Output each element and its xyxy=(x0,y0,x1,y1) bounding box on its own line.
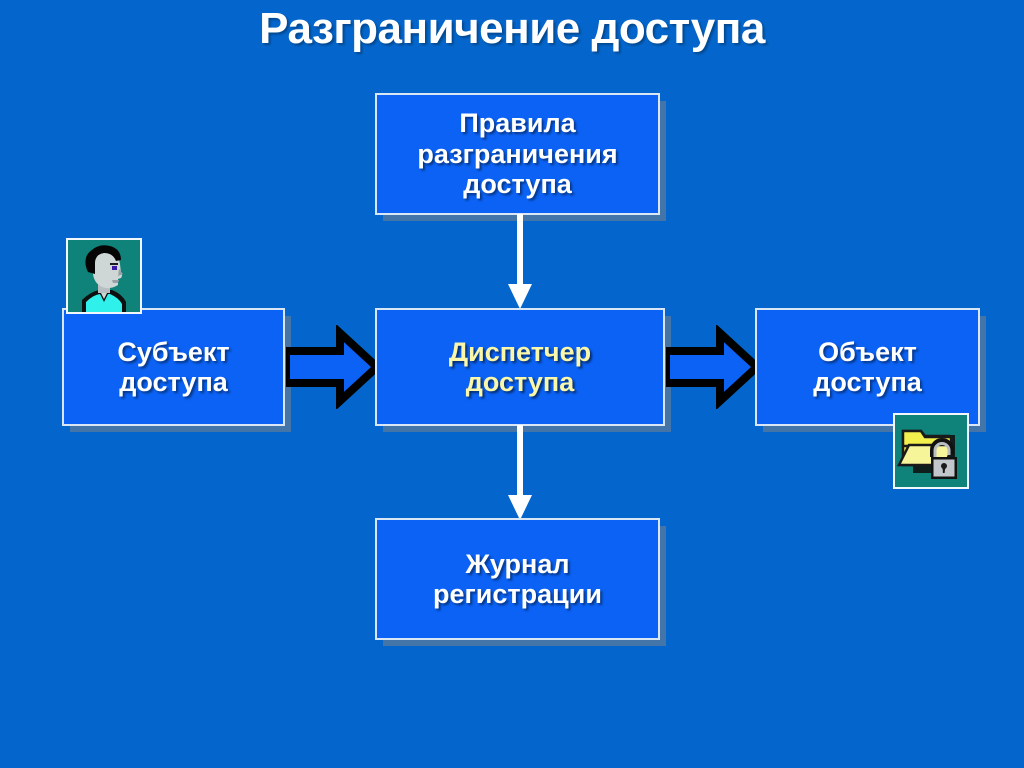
node-monitor[interactable]: Диспетчер доступа xyxy=(375,308,665,426)
person-icon xyxy=(66,238,142,314)
node-object-label: Объект доступа xyxy=(805,337,930,398)
node-journal-label: Журнал регистрации xyxy=(425,549,610,610)
page-title: Разграничение доступа xyxy=(0,4,1024,54)
node-rules[interactable]: Правила разграничения доступа xyxy=(375,93,660,215)
node-monitor-label: Диспетчер доступа xyxy=(441,337,599,398)
slide-canvas: Разграничение доступа Правила разграниче… xyxy=(0,0,1024,768)
arrow-subject-to-monitor xyxy=(286,325,378,409)
node-subject-label: Субъект доступа xyxy=(109,337,237,398)
locked-folder-icon xyxy=(893,413,969,489)
arrow-monitor-to-object xyxy=(666,325,758,409)
node-object[interactable]: Объект доступа xyxy=(755,308,980,426)
node-journal[interactable]: Журнал регистрации xyxy=(375,518,660,640)
arrow-monitor-to-journal xyxy=(503,425,537,521)
node-subject[interactable]: Субъект доступа xyxy=(62,308,285,426)
node-rules-label: Правила разграничения доступа xyxy=(409,108,625,200)
arrow-rules-to-monitor xyxy=(503,214,537,310)
